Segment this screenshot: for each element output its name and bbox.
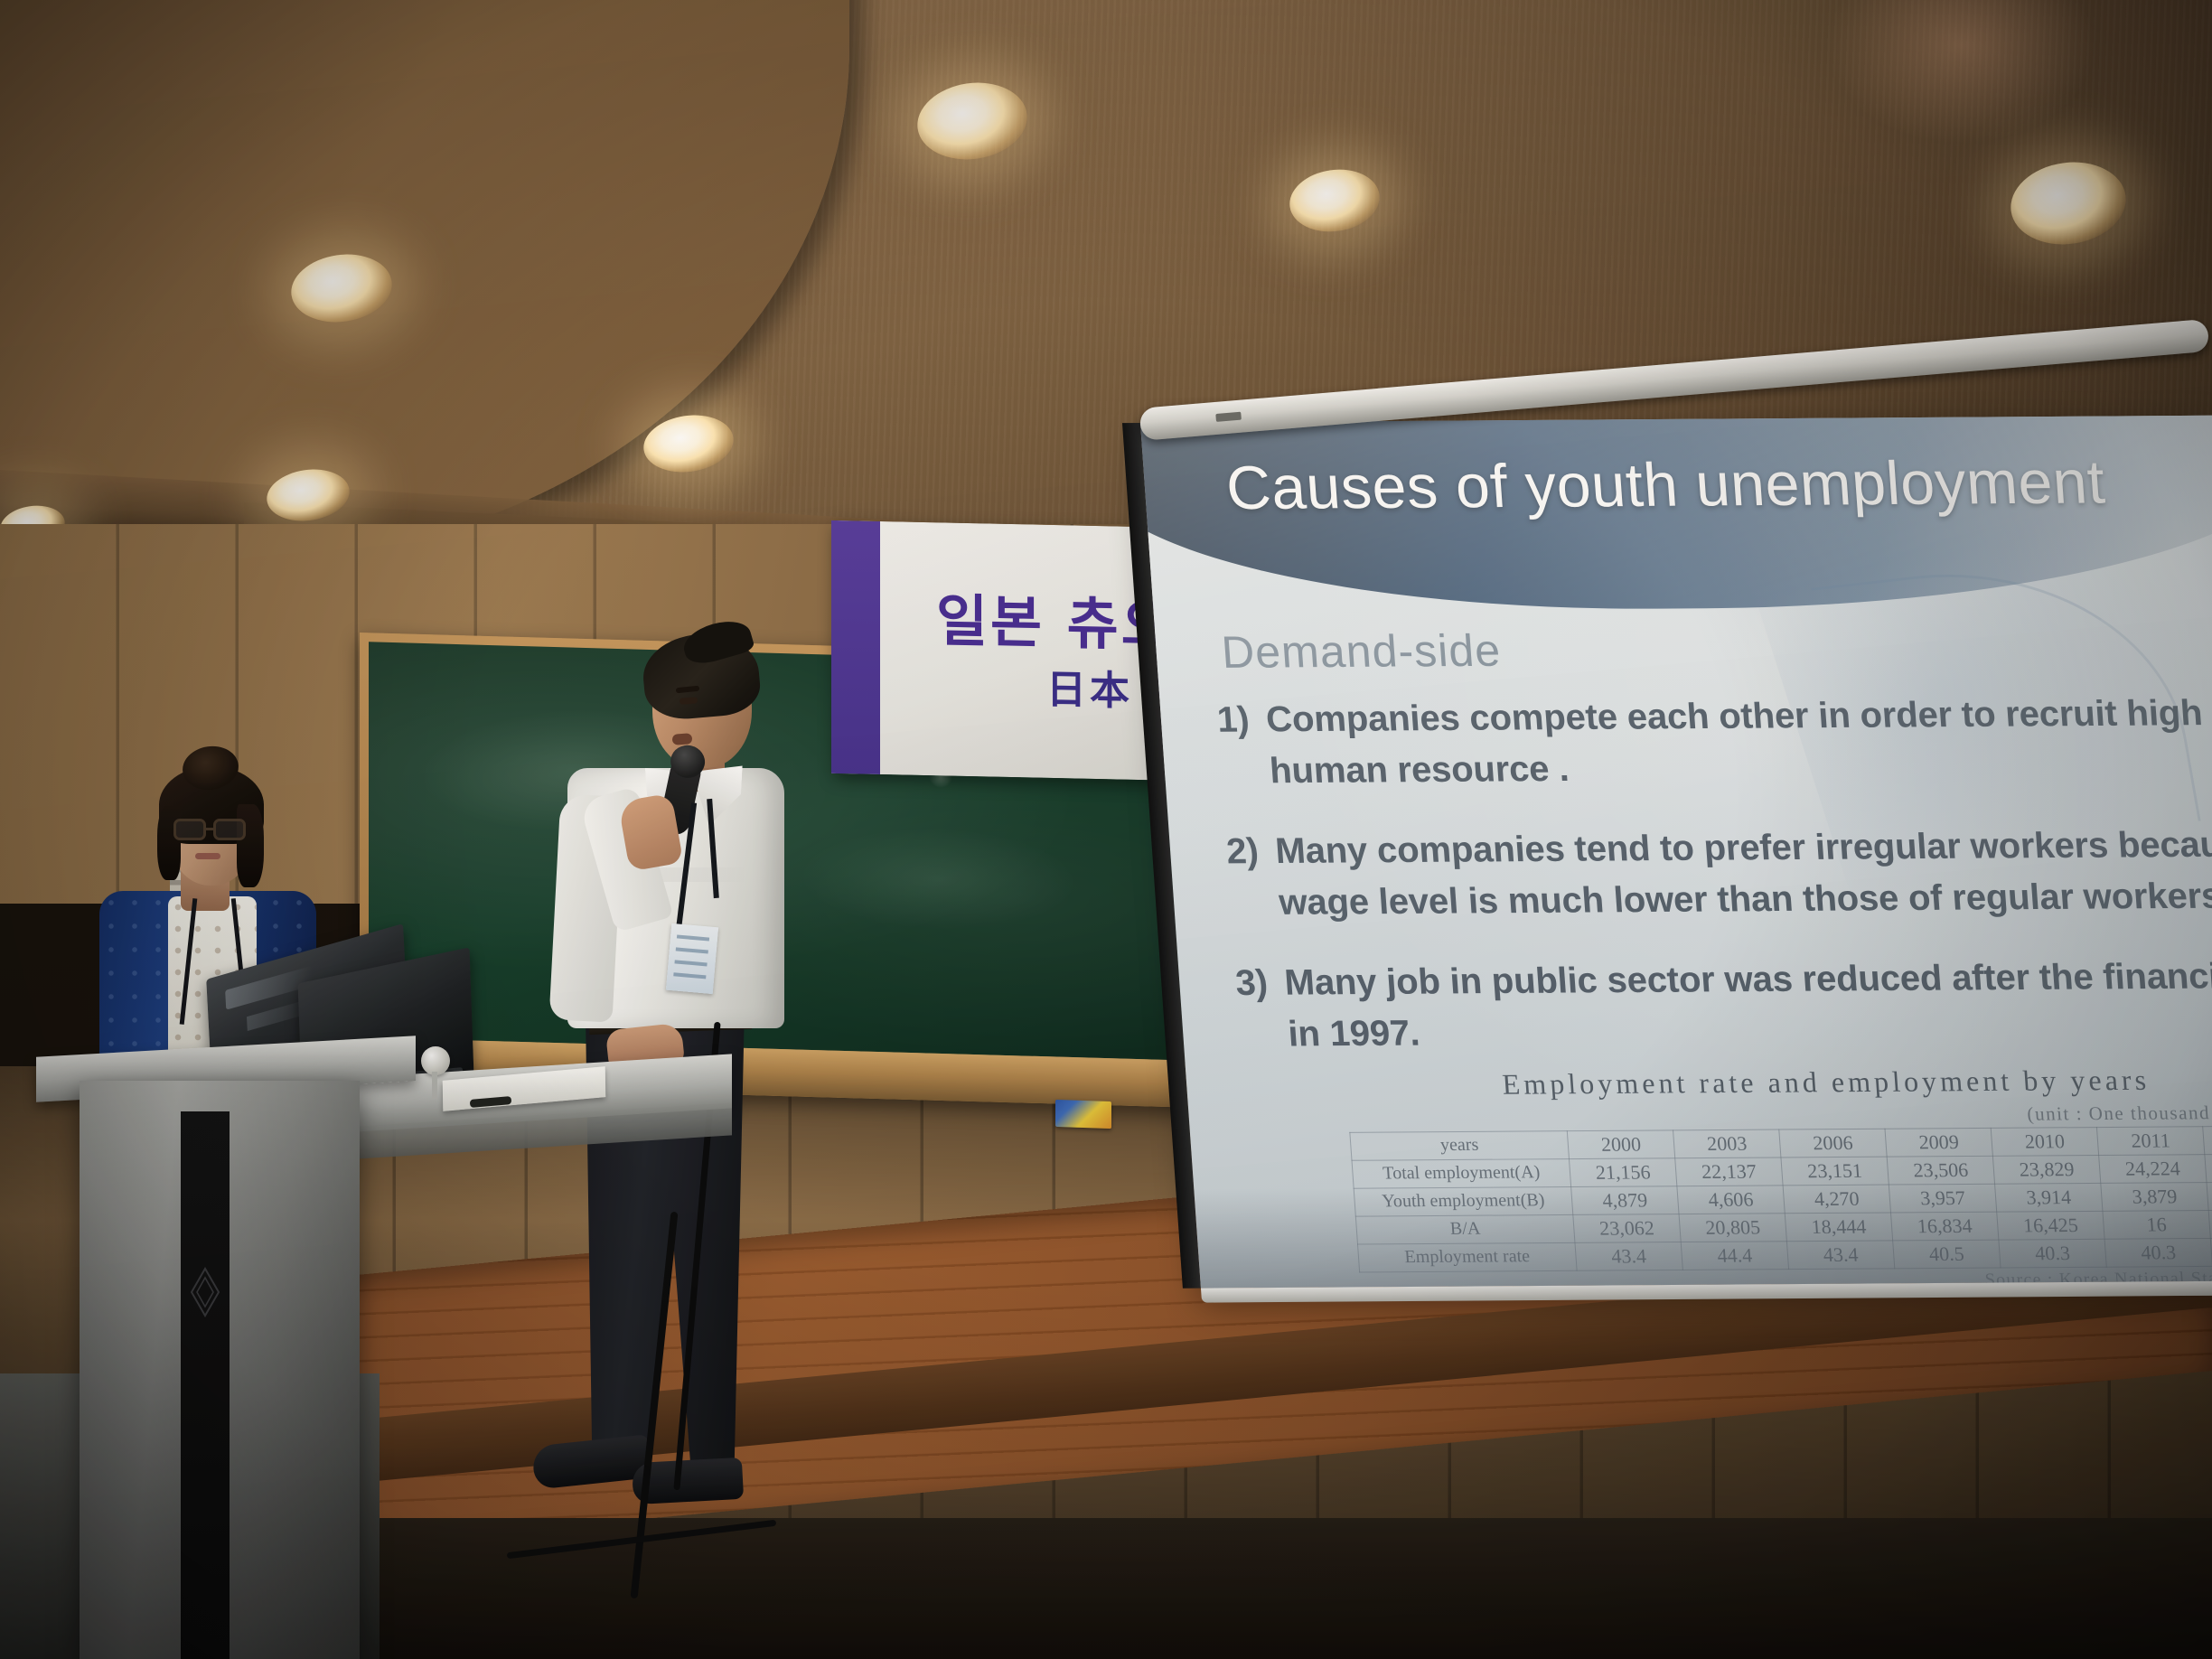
table-col-header: 2009 xyxy=(1885,1128,1992,1157)
employment-table-block: Employment rate and employment by years … xyxy=(1345,1063,2212,1289)
table-cell: 4,270 xyxy=(1783,1185,1890,1214)
table-cell: 43.4 xyxy=(1575,1242,1682,1270)
table-cell: 3,879 xyxy=(2101,1183,2208,1212)
table-row: Employment rate 43.4 44.4 43.4 40.5 40.3… xyxy=(1357,1237,2212,1271)
slide-bullet-1: 1)Companies compete each other in order … xyxy=(1215,687,2212,797)
slide-title: Causes of youth unemployment xyxy=(1224,447,2108,524)
table-col-header: 2003 xyxy=(1673,1129,1781,1158)
co-presenter-mouth xyxy=(195,853,220,859)
eyeglasses-lens xyxy=(213,819,246,840)
speaker-eye xyxy=(680,697,698,704)
table-cell: 4,606 xyxy=(1677,1186,1785,1214)
projection-screen: Causes of youth unemployment Demand-side… xyxy=(1140,416,2212,1289)
speaker-mouth xyxy=(672,733,693,745)
table-cell: 16 xyxy=(2103,1210,2210,1239)
bullet-text: Companies compete each other in order to… xyxy=(1265,693,2212,740)
table-cell: 20,805 xyxy=(1679,1214,1786,1242)
bullet-text-cont: human resource . xyxy=(1219,738,2212,797)
table-cell: 24,224 xyxy=(2099,1155,2207,1184)
bullet-text: Many job in public sector was reduced af… xyxy=(1283,956,2212,1003)
bullet-number: 1) xyxy=(1215,694,1268,745)
table-col-header: 2006 xyxy=(1779,1129,1887,1158)
bullet-text-cont: wage level is much lower than those of r… xyxy=(1228,869,2212,928)
table-cell: 4,879 xyxy=(1571,1186,1679,1215)
table-cell: 40.3 xyxy=(2104,1238,2212,1267)
lectern-center-slot xyxy=(181,1111,230,1659)
bullet-number: 2) xyxy=(1224,826,1277,877)
table-row-label: B/A xyxy=(1355,1214,1575,1244)
eyeglasses-lens xyxy=(173,819,206,840)
microphone-stem xyxy=(432,1072,437,1099)
table-cell: 23,829 xyxy=(1992,1155,2100,1184)
chalk-smudge xyxy=(802,826,1073,933)
lectern-emblem-icon xyxy=(186,1265,224,1319)
employment-table: years 2000 2003 2006 2009 2010 2011 2012 xyxy=(1349,1125,2212,1272)
table-cell: 23,062 xyxy=(1573,1214,1681,1242)
housing-label xyxy=(1215,412,1242,422)
table-cell: 40.5 xyxy=(1893,1240,2001,1269)
projected-slide: Causes of youth unemployment Demand-side… xyxy=(1140,416,2212,1289)
table-cell: 40.3 xyxy=(1999,1239,2106,1268)
table-cell: 44.4 xyxy=(1681,1242,1788,1270)
slide-bullet-3: 3)Many job in public sector was reduced … xyxy=(1234,950,2212,1060)
slide-subheading: Demand-side xyxy=(1220,624,1503,679)
table-col-header: 2010 xyxy=(1991,1128,2098,1157)
co-presenter-hair-strand xyxy=(237,804,264,887)
badge-text-line xyxy=(676,947,708,953)
badge-text-line xyxy=(673,972,706,979)
badge-text-line xyxy=(674,960,707,966)
table-row-label: Employment rate xyxy=(1357,1242,1577,1272)
bullet-text-cont: in 1997. xyxy=(1238,1001,2212,1060)
table-unit-note: (unit : One thousand people, % xyxy=(1347,1101,2212,1130)
table-cell: 3,957 xyxy=(1889,1184,1996,1213)
table-cell: 23,506 xyxy=(1887,1156,1994,1185)
bullet-text: Many companies tend to prefer irregular … xyxy=(1274,824,2212,871)
table-cell: 23,151 xyxy=(1781,1157,1889,1186)
table-corner-label: years xyxy=(1350,1131,1570,1161)
chalk-box xyxy=(1055,1100,1111,1129)
table-col-header: 2012 xyxy=(2203,1126,2212,1155)
table-cell: 22,137 xyxy=(1675,1158,1783,1186)
table-col-header: 2000 xyxy=(1567,1130,1674,1159)
table-row-label: Youth employment(B) xyxy=(1354,1186,1573,1216)
table-row-label: Total employment(A) xyxy=(1352,1159,1571,1189)
co-presenter-hair-strand xyxy=(157,806,181,880)
bullet-number: 3) xyxy=(1234,958,1287,1009)
eyeglasses-bridge xyxy=(206,828,215,830)
table-cell: 43.4 xyxy=(1786,1241,1894,1270)
table-cell: 18,444 xyxy=(1785,1213,1892,1242)
table-cell: 3,914 xyxy=(1995,1183,2103,1212)
name-badge xyxy=(666,923,718,994)
table-title: Employment rate and employment by years xyxy=(1345,1063,2212,1102)
slide-bullet-2: 2)Many companies tend to prefer irregula… xyxy=(1224,819,2212,929)
table-cell: 21,156 xyxy=(1569,1158,1676,1187)
table-cell: 3,843 xyxy=(2207,1182,2212,1211)
table-col-header: 2011 xyxy=(2096,1127,2204,1156)
badge-text-line xyxy=(677,934,709,941)
table-cell: 16,834 xyxy=(1890,1212,1998,1241)
table-cell: 16,425 xyxy=(1997,1211,2104,1240)
lecture-hall-photo: 일본 츄오 日本 中 Causes of youth unemployment … xyxy=(0,0,2212,1659)
table-cell: 24,681 xyxy=(2205,1154,2212,1183)
